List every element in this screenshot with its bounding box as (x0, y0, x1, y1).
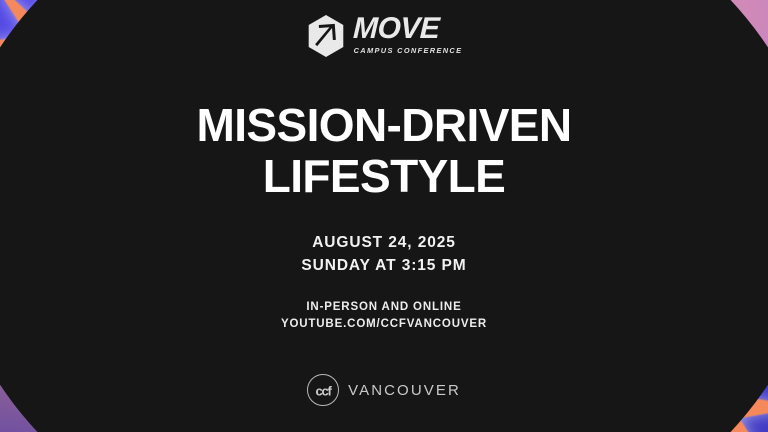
event-poster: MOVE CAMPUS CONFERENCE MISSION-DRIVEN LI… (0, 0, 768, 432)
event-format: IN-PERSON AND ONLINE (281, 299, 487, 316)
footer-brand: ccf VANCOUVER (0, 374, 768, 406)
poster-content: MOVE CAMPUS CONFERENCE MISSION-DRIVEN LI… (0, 0, 768, 432)
ccf-circle-icon: ccf (307, 374, 339, 406)
headline-line-1: MISSION-DRIVEN (197, 99, 572, 151)
headline-line-2: LIFESTYLE (197, 151, 572, 202)
page-title: MISSION-DRIVEN LIFESTYLE (197, 100, 572, 202)
event-date: AUGUST 24, 2025 (301, 232, 466, 254)
move-tagline: CAMPUS CONFERENCE (354, 46, 463, 55)
move-wordmark: MOVE (352, 15, 463, 44)
event-time: SUNDAY AT 3:15 PM (301, 255, 466, 277)
event-location: IN-PERSON AND ONLINE YOUTUBE.COM/CCFVANC… (281, 299, 487, 334)
move-logo: MOVE CAMPUS CONFERENCE (306, 14, 463, 58)
event-datetime: AUGUST 24, 2025 SUNDAY AT 3:15 PM (301, 232, 466, 277)
hexagon-arrow-icon (306, 14, 346, 58)
event-stream-url[interactable]: YOUTUBE.COM/CCFVANCOUVER (281, 316, 487, 333)
ccf-vancouver-label: VANCOUVER (348, 382, 461, 399)
move-wordmark-block: MOVE CAMPUS CONFERENCE (353, 14, 463, 55)
ccf-mark-text: ccf (315, 384, 330, 397)
